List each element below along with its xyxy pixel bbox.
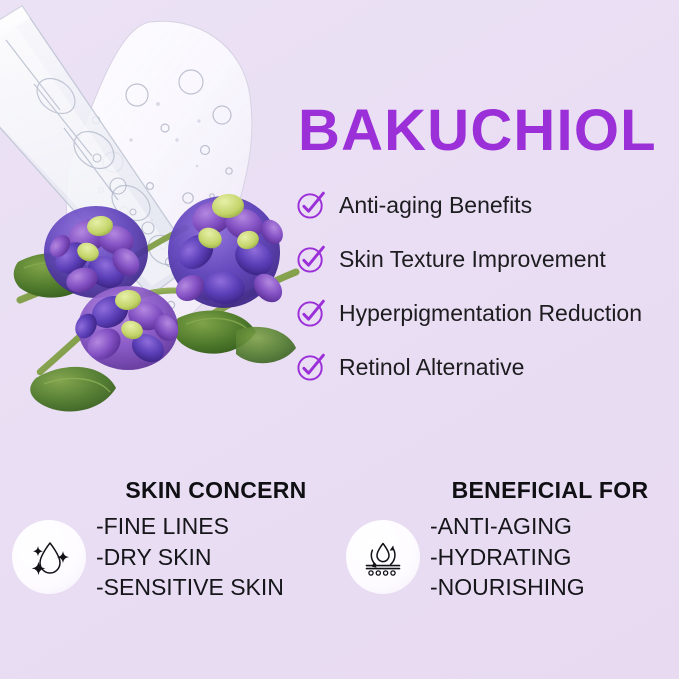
check-circle-icon bbox=[296, 190, 326, 220]
bottom-columns: SKIN CONCERN -FINE LINES -DRY SKIN -SENS… bbox=[0, 478, 679, 638]
flower-head bbox=[71, 286, 183, 370]
list-item: -NOURISHING bbox=[430, 572, 585, 603]
beneficial-for-title: BENEFICIAL FOR bbox=[346, 478, 676, 503]
beneficial-for-icon-circle bbox=[346, 520, 420, 594]
flower-sprigs-icon bbox=[14, 193, 296, 412]
benefit-item: Skin Texture Improvement bbox=[296, 232, 676, 286]
beneficial-for-column: BENEFICIAL FOR bbox=[346, 478, 676, 603]
droplet-absorb-skin-icon bbox=[360, 534, 406, 580]
skin-concern-body: -FINE LINES -DRY SKIN -SENSITIVE SKIN bbox=[12, 511, 342, 603]
benefit-item: Retinol Alternative bbox=[296, 340, 676, 394]
benefit-label: Skin Texture Improvement bbox=[339, 248, 606, 271]
droplet-sparkle-icon bbox=[26, 534, 72, 580]
benefit-item: Hyperpigmentation Reduction bbox=[296, 286, 676, 340]
beneficial-for-body: -ANTI-AGING -HYDRATING -NOURISHING bbox=[346, 511, 676, 603]
serum-blob-icon bbox=[66, 21, 252, 330]
page-title: BAKUCHIOL bbox=[298, 102, 657, 160]
list-item: -SENSITIVE SKIN bbox=[96, 572, 284, 603]
list-item: -HYDRATING bbox=[430, 542, 585, 573]
skin-concern-title: SKIN CONCERN bbox=[12, 478, 342, 503]
benefit-item: Anti-aging Benefits bbox=[296, 178, 676, 232]
benefit-label: Retinol Alternative bbox=[339, 356, 524, 379]
benefit-label: Anti-aging Benefits bbox=[339, 194, 532, 217]
skin-concern-column: SKIN CONCERN -FINE LINES -DRY SKIN -SENS… bbox=[12, 478, 342, 603]
dropper-pipette-icon bbox=[0, 6, 196, 296]
flower-head bbox=[168, 193, 288, 308]
flower-head bbox=[44, 206, 148, 298]
list-item: -ANTI-AGING bbox=[430, 511, 585, 542]
infographic-canvas: BAKUCHIOL Anti-aging Benefits Skin Textu… bbox=[0, 0, 679, 679]
beneficial-for-items: -ANTI-AGING -HYDRATING -NOURISHING bbox=[430, 511, 585, 603]
benefit-label: Hyperpigmentation Reduction bbox=[339, 302, 642, 325]
check-circle-icon bbox=[296, 244, 326, 274]
check-circle-icon bbox=[296, 298, 326, 328]
list-item: -DRY SKIN bbox=[96, 542, 284, 573]
check-circle-icon bbox=[296, 352, 326, 382]
benefits-list: Anti-aging Benefits Skin Texture Improve… bbox=[296, 178, 676, 394]
list-item: -FINE LINES bbox=[96, 511, 284, 542]
product-artwork bbox=[0, 0, 300, 450]
skin-concern-icon-circle bbox=[12, 520, 86, 594]
skin-concern-items: -FINE LINES -DRY SKIN -SENSITIVE SKIN bbox=[96, 511, 284, 603]
